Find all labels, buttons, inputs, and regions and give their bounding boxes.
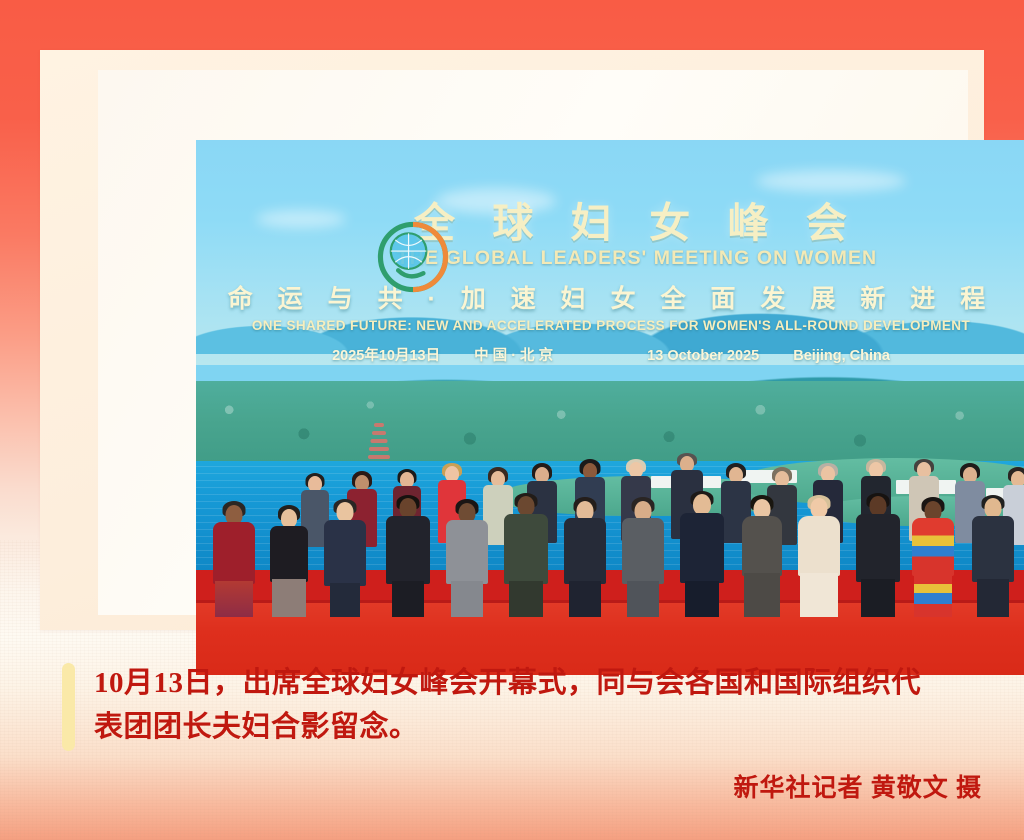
delegate xyxy=(212,501,256,617)
delegate-leader xyxy=(678,491,726,617)
delegate xyxy=(620,497,666,617)
delegate xyxy=(268,505,310,617)
caption-accent-bar xyxy=(62,663,75,751)
delegate xyxy=(444,499,490,617)
delegate xyxy=(854,493,902,617)
delegate xyxy=(970,495,1016,617)
delegate xyxy=(322,499,368,617)
news-photo-card: 全 球 妇 女 峰 会 THE GLOBAL LEADERS' MEETING … xyxy=(0,0,1024,840)
cloud xyxy=(256,210,346,228)
caption-text: 10月13日，出席全球妇女峰会开幕式，同与会各国和国际组织代表团团长夫妇合影留念… xyxy=(94,662,934,749)
cloud xyxy=(436,188,556,214)
delegate xyxy=(502,493,550,617)
delegate xyxy=(910,497,956,617)
photo-frame-outer-mat: 全 球 妇 女 峰 会 THE GLOBAL LEADERS' MEETING … xyxy=(40,50,984,630)
delegate xyxy=(562,497,608,617)
delegate xyxy=(796,495,842,617)
delegate-spouse xyxy=(740,495,784,617)
photo-frame-inner-mat: 全 球 妇 女 峰 会 THE GLOBAL LEADERS' MEETING … xyxy=(98,70,968,615)
group-photo: 全 球 妇 女 峰 会 THE GLOBAL LEADERS' MEETING … xyxy=(196,140,1024,675)
delegate xyxy=(384,495,432,617)
cloud xyxy=(756,170,906,192)
photo-credit: 新华社记者 黄敬文 摄 xyxy=(733,768,982,804)
